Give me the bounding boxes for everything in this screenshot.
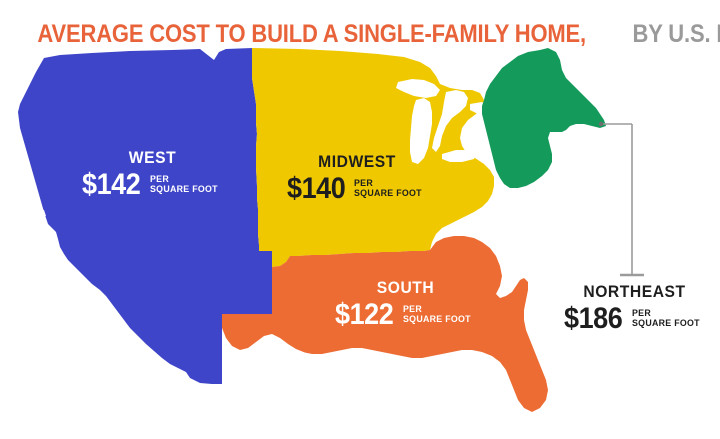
map-coast-notch-puget xyxy=(18,58,36,70)
map-coast-notch-ca-north xyxy=(14,154,28,166)
northeast-leader-line xyxy=(599,122,644,275)
title-subtitle-text: BY U.S. REGION xyxy=(633,20,720,49)
title-main-text: AVERAGE COST TO BUILD A SINGLE-FAMILY HO… xyxy=(37,20,586,49)
infographic-root: AVERAGE COST TO BUILD A SINGLE-FAMILY HO… xyxy=(0,0,720,439)
map-chesapeake-notch xyxy=(510,190,526,232)
map-region-northeast[interactable] xyxy=(482,48,606,188)
us-region-map xyxy=(0,46,720,439)
